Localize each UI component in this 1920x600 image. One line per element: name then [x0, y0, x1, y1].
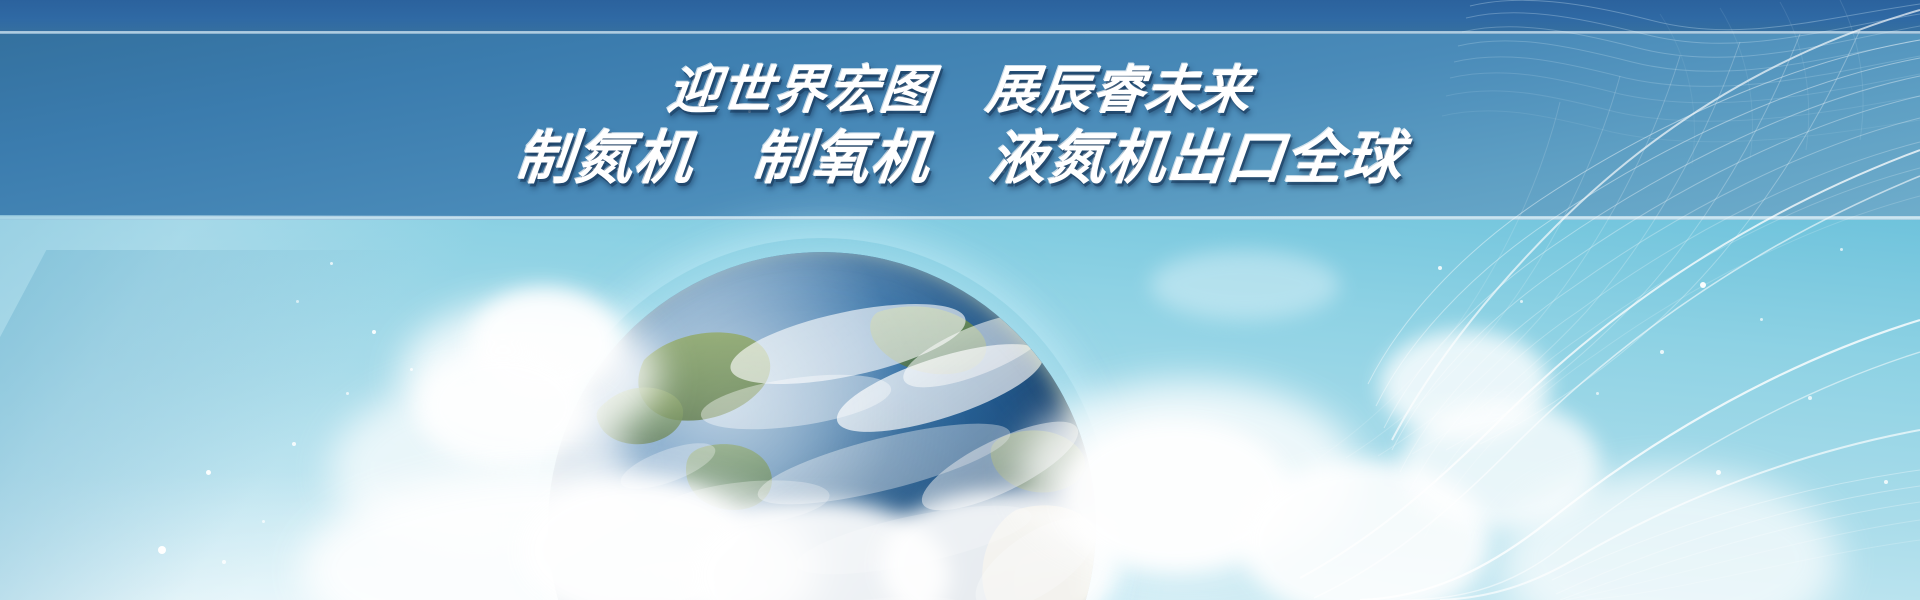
headline-line-1: 迎世界宏图 展辰睿未来	[666, 66, 1255, 118]
headline-block: 迎世界宏图 展辰睿未来 制氮机 制氧机 液氮机出口全球	[0, 34, 1920, 220]
headline-line-2: 制氮机 制氧机 液氮机出口全球	[513, 130, 1407, 188]
sky-color-band	[0, 220, 1920, 600]
top-color-band	[0, 0, 1920, 34]
hero-banner: 迎世界宏图 展辰睿未来 制氮机 制氧机 液氮机出口全球	[0, 0, 1920, 600]
